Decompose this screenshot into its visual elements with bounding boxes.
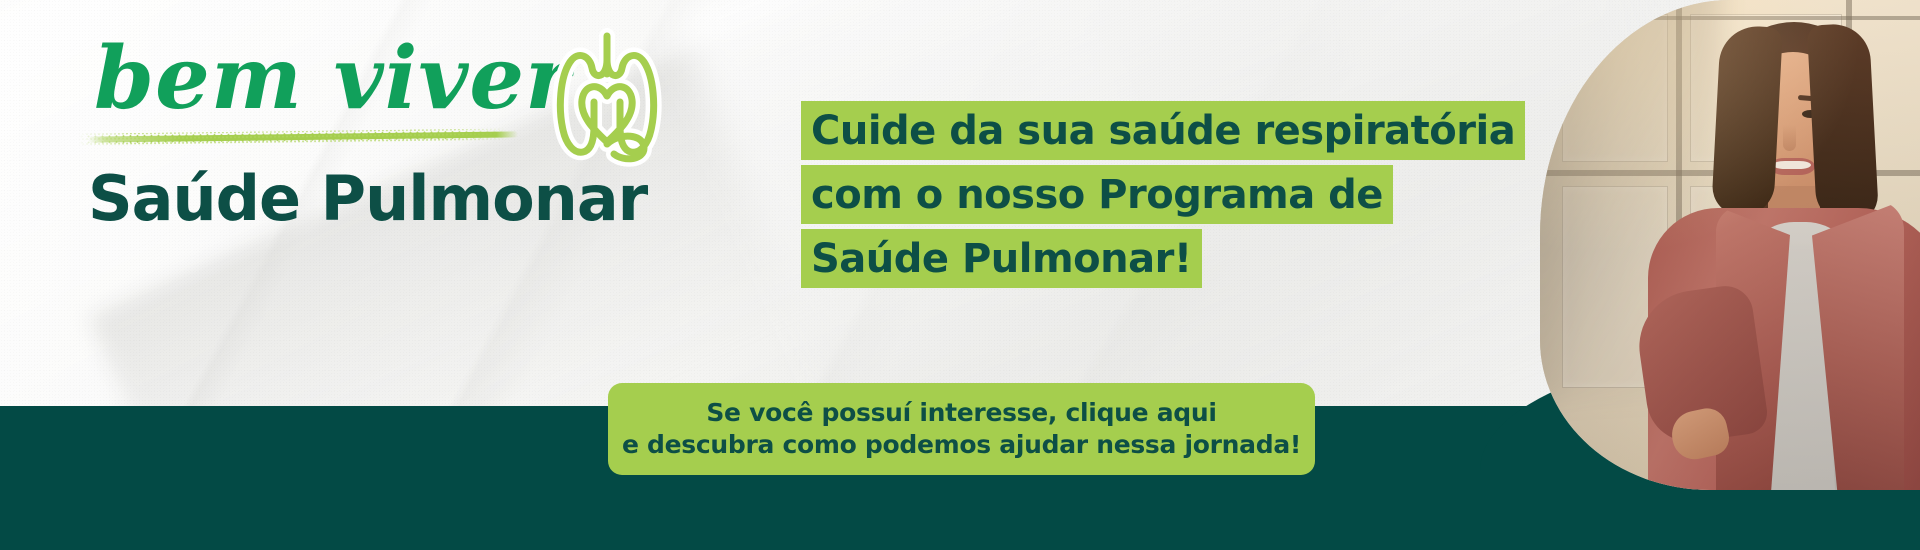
hair-front-right xyxy=(1807,23,1879,226)
brush-stroke-speckle xyxy=(78,129,508,146)
brand-block: bem viver Saúde Pulmonar xyxy=(88,34,608,230)
lungs-heart-icon xyxy=(532,22,682,172)
teeth xyxy=(1773,161,1811,169)
hero-photo xyxy=(1540,0,1920,490)
nose xyxy=(1783,125,1796,151)
headline-line-2: com o nosso Programa de xyxy=(801,165,1393,224)
cta-button[interactable]: Se você possuí interesse, clique aqui e … xyxy=(608,383,1315,475)
headline-line-1: Cuide da sua saúde respiratória xyxy=(801,101,1525,160)
cta-line-1: Se você possuí interesse, clique aqui xyxy=(706,397,1216,429)
headline-line-3: Saúde Pulmonar! xyxy=(801,229,1202,288)
page-title: Saúde Pulmonar xyxy=(88,168,608,230)
headline: Cuide da sua saúde respiratória com o no… xyxy=(801,101,1361,293)
hair-front-left xyxy=(1711,25,1783,218)
promo-banner: bem viver Saúde Pulmonar xyxy=(0,0,1920,550)
cta-line-2: e descubra como podemos ajudar nessa jor… xyxy=(622,429,1301,461)
brand-script-wordmark: bem viver xyxy=(94,34,608,124)
person-figure xyxy=(1540,0,1920,490)
brush-stroke-divider xyxy=(78,130,530,144)
